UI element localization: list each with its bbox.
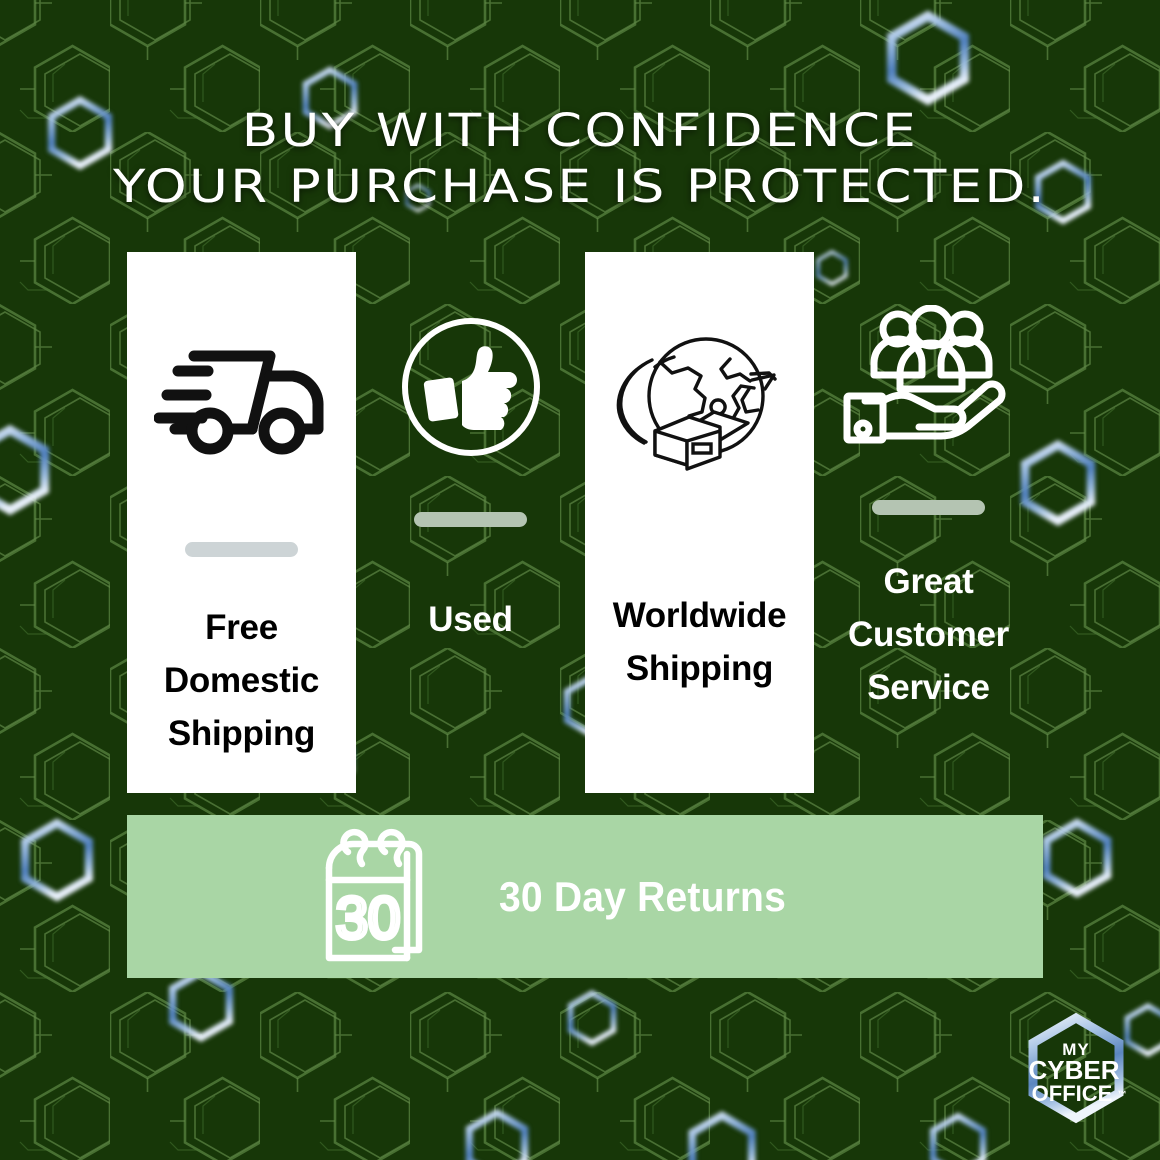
feature-row: Free Domestic Shipping Used [127, 252, 1043, 793]
feature-label: Worldwide Shipping [609, 589, 791, 695]
calendar-30-icon: 30 [307, 824, 447, 969]
globe-packages-icon [585, 252, 814, 552]
feature-label: Free Domestic Shipping [160, 601, 323, 761]
feature-label-line: Shipping [613, 642, 787, 695]
hand-holding-people-icon [814, 252, 1043, 500]
feature-label-line: Worldwide [613, 589, 787, 642]
feature-label-line: Great [848, 555, 1009, 608]
feature-label-line: Service [848, 661, 1009, 714]
headline-line-1: BUY WITH CONFIDENCE [0, 108, 1160, 153]
headline-line-2: YOUR PURCHASE IS PROTECTED. [0, 164, 1160, 209]
logo-trademark: ™ [1118, 1089, 1127, 1099]
feature-label: Great Customer Service [844, 555, 1013, 715]
feature-free-domestic-shipping[interactable]: Free Domestic Shipping [127, 252, 356, 793]
feature-label: Used [424, 593, 516, 646]
returns-label: 30 Day Returns [499, 873, 786, 921]
feature-worldwide-shipping[interactable]: Worldwide Shipping [585, 252, 814, 793]
brand-logo[interactable]: MY CYBER OFFICE ™ [1014, 1012, 1138, 1124]
headline: BUY WITH CONFIDENCE YOUR PURCHASE IS PRO… [0, 108, 1160, 209]
feature-label-line: Free [164, 601, 319, 654]
feature-label-line: Domestic [164, 654, 319, 707]
logo-line-3: OFFICE [1032, 1081, 1113, 1106]
feature-divider-pill [185, 542, 298, 557]
delivery-truck-icon [127, 252, 356, 542]
returns-banner[interactable]: 30 30 Day Returns [127, 815, 1043, 978]
calendar-number: 30 [336, 886, 401, 951]
feature-used[interactable]: Used [356, 252, 585, 793]
feature-great-customer-service[interactable]: Great Customer Service [814, 252, 1043, 793]
feature-label-line: Used [428, 593, 512, 646]
feature-label-line: Shipping [164, 707, 319, 760]
thumbs-up-circle-icon [356, 252, 585, 512]
feature-divider-pill [872, 500, 985, 515]
feature-label-line: Customer [848, 608, 1009, 661]
feature-divider-pill [414, 512, 527, 527]
